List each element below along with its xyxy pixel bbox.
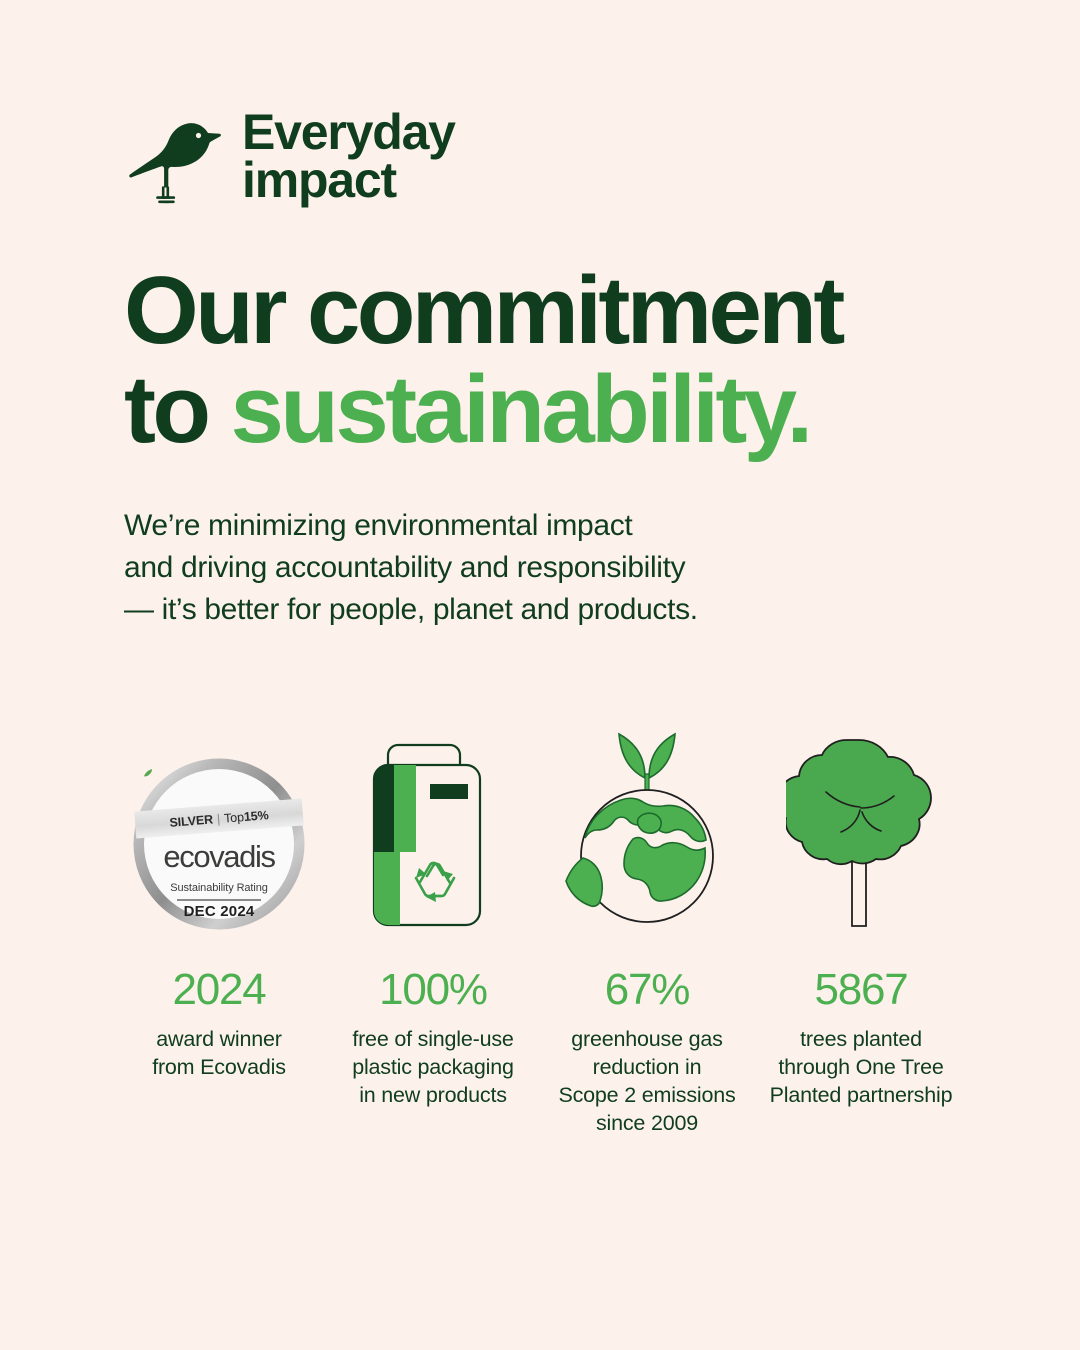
lede-line-3: — it’s better for people, planet and pro… [124,589,944,631]
caption-line: plastic packaging [352,1054,514,1082]
headline-prefix: to [124,356,230,463]
stat-value: 2024 [172,968,265,1012]
stat-icon-wrap [326,720,540,930]
brand-logo: Everyday impact [122,104,455,208]
ecovadis-wordmark: ecovadis [163,841,274,872]
stat-icon-wrap: SILVER|Top 15% ecovadis Sustainability R… [112,720,326,930]
medal-face: SILVER|Top 15% ecovadis Sustainability R… [144,769,294,919]
lede-line-1: We’re minimizing environmental impact [124,505,944,547]
stat-caption: award winner from Ecovadis [152,1026,286,1082]
headline-line-2: to sustainability. [124,361,1004,460]
stat-value: 5867 [814,968,907,1012]
caption-line: award winner [152,1026,286,1054]
page-title: Our commitment to sustainability. [124,262,1004,460]
ecovadis-medal-icon: SILVER|Top 15% ecovadis Sustainability R… [133,758,305,930]
stat-value: 100% [379,968,487,1012]
caption-line: since 2009 [558,1110,735,1138]
intro-paragraph: We’re minimizing environmental impact an… [124,505,944,631]
caption-line: Scope 2 emissions [558,1082,735,1110]
headline-accent: sustainability. [230,356,809,463]
caption-line: trees planted [770,1026,953,1054]
leaf-icon [144,769,153,780]
sustainability-infographic: Everyday impact Our commitment to sustai… [0,0,1080,1350]
medal-separator: | [216,811,220,825]
stat-emissions: 67% greenhouse gas reduction in Scope 2 … [540,720,754,1138]
medal-subtitle: Sustainability Rating [170,882,268,894]
medal-tier: Top [224,810,245,826]
stats-row: SILVER|Top 15% ecovadis Sustainability R… [112,720,968,1138]
globe-sprout-icon [561,706,733,930]
stat-icon-wrap [754,720,968,930]
stat-caption: free of single-use plastic packaging in … [352,1026,514,1110]
caption-line: in new products [352,1082,514,1110]
medal-date: DEC 2024 [184,903,255,920]
stat-trees: 5867 trees planted through One Tree Plan… [754,720,968,1138]
caption-line: reduction in [558,1054,735,1082]
medal-rank: SILVER [169,812,214,829]
medal-tier-pct: 15% [243,808,269,824]
brand-line-2: impact [242,156,455,204]
bird-icon [122,104,226,208]
caption-line: free of single-use [352,1026,514,1054]
recyclable-packaging-icon [358,740,508,930]
caption-line: through One Tree [770,1054,953,1082]
caption-line: from Ecovadis [152,1054,286,1082]
stat-caption: trees planted through One Tree Planted p… [770,1026,953,1110]
medal-divider [177,899,261,901]
stat-icon-wrap [540,720,754,930]
caption-line: Planted partnership [770,1082,953,1110]
stat-ecovadis: SILVER|Top 15% ecovadis Sustainability R… [112,720,326,1138]
lede-line-2: and driving accountability and responsib… [124,547,944,589]
caption-line: greenhouse gas [558,1026,735,1054]
stat-packaging: 100% free of single-use plastic packagin… [326,720,540,1138]
brand-wordmark: Everyday impact [242,108,455,204]
headline-line-1: Our commitment [124,262,1004,361]
tree-icon [786,734,936,930]
stat-value: 67% [605,968,689,1012]
stat-caption: greenhouse gas reduction in Scope 2 emis… [558,1026,735,1138]
medal-rank-banner: SILVER|Top 15% [134,798,304,838]
